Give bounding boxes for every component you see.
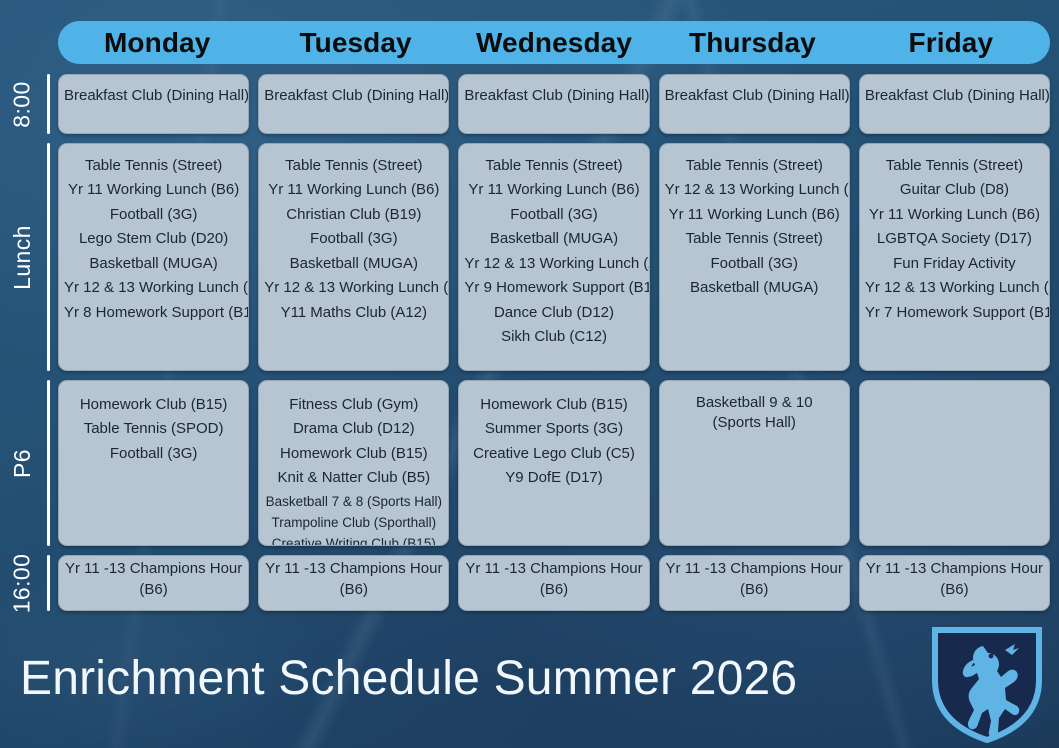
time-label-rail: 8:00 Lunch P6 16:00 [0,74,58,620]
activity-entry: Yr 12 & 13 Working Lunch (A7) [64,276,243,300]
activity-entry: Breakfast Club (Dining Hall) [464,84,643,108]
time-label-p6: P6 [0,380,44,546]
activity-entry: Yr 11 Working Lunch (B6) [464,178,643,202]
activity-entry: Yr 12 & 13 Working Lunch (A7) [264,276,443,300]
activity-entry: Yr 11 Working Lunch (B6) [665,203,844,227]
activity-entry: Yr 8 Homework Support (B15) [64,301,243,325]
activity-entry: Table Tennis (SPOD) [64,417,243,441]
day-header-friday: Friday [852,21,1050,64]
activity-entry: Table Tennis (Street) [264,154,443,178]
schedule-grid: Breakfast Club (Dining Hall) Breakfast C… [58,74,1050,620]
activity-entry: Basketball (MUGA) [64,252,243,276]
activity-entry: Dance Club (D12) [464,301,643,325]
activity-entry: Yr 11 -13 Champions Hour (B6) [865,559,1044,600]
activity-entry: Basketball (MUGA) [264,252,443,276]
activity-entry: Fitness Club (Gym) [264,393,443,417]
rail-divider-1600 [47,555,50,611]
activity-entry: Football (3G) [665,252,844,276]
cell-p6-monday[interactable]: Homework Club (B15) Table Tennis (SPOD) … [58,380,249,546]
cell-p6-tuesday[interactable]: Fitness Club (Gym) Drama Club (D12) Home… [258,380,449,546]
time-label-lunch: Lunch [0,143,44,371]
activity-entry: Sikh Club (C12) [464,325,643,349]
activity-entry: Yr 11 -13 Champions Hour (B6) [464,559,643,600]
activity-entry: Basketball (MUGA) [665,276,844,300]
cell-lunch-friday[interactable]: Table Tennis (Street) Guitar Club (D8) Y… [859,143,1050,371]
activity-entry: Table Tennis (Street) [665,227,844,251]
activity-entry: Football (3G) [264,227,443,251]
activity-entry: Breakfast Club (Dining Hall) [665,84,844,108]
activity-entry: Yr 7 Homework Support (B15) [865,301,1044,325]
activity-entry: Yr 11 Working Lunch (B6) [865,203,1044,227]
activity-entry: Creative Lego Club (C5) [464,442,643,466]
cell-breakfast-wednesday[interactable]: Breakfast Club (Dining Hall) [458,74,649,134]
activity-entry: Christian Club (B19) [264,203,443,227]
activity-entry: Table Tennis (Street) [464,154,643,178]
cell-breakfast-friday[interactable]: Breakfast Club (Dining Hall) [859,74,1050,134]
activity-entry: Table Tennis (Street) [665,154,844,178]
cell-1600-tuesday[interactable]: Yr 11 -13 Champions Hour (B6) [258,555,449,611]
rail-divider-800 [47,74,50,134]
day-header-tuesday: Tuesday [256,21,454,64]
activity-entry: Y9 DofE (D17) [464,466,643,490]
school-crest-icon [927,620,1047,744]
activity-entry: Basketball 9 & 10 (Sports Hall) [679,393,829,432]
activity-entry: Homework Club (B15) [264,442,443,466]
activity-entry: Yr 12 & 13 Working Lunch (A7) [665,178,844,202]
cell-1600-wednesday[interactable]: Yr 11 -13 Champions Hour (B6) [458,555,649,611]
activity-entry: Table Tennis (Street) [64,154,243,178]
day-header-thursday: Thursday [653,21,851,64]
activity-entry: Lego Stem Club (D20) [64,227,243,251]
cell-lunch-thursday[interactable]: Table Tennis (Street) Yr 12 & 13 Working… [659,143,850,371]
activity-entry: Y11 Maths Club (A12) [264,301,443,325]
activity-entry: Guitar Club (D8) [865,178,1044,202]
activity-entry: Breakfast Club (Dining Hall) [64,84,243,108]
activity-entry: Football (3G) [464,203,643,227]
time-label-1600: 16:00 [0,555,44,611]
activity-entry: Drama Club (D12) [264,417,443,441]
weekday-header-bar: Monday Tuesday Wednesday Thursday Friday [58,21,1050,64]
time-label-800: 8:00 [0,74,44,134]
activity-entry: Football (3G) [64,203,243,227]
cell-1600-monday[interactable]: Yr 11 -13 Champions Hour (B6) [58,555,249,611]
cell-p6-friday[interactable] [859,380,1050,546]
cell-breakfast-monday[interactable]: Breakfast Club (Dining Hall) [58,74,249,134]
activity-entry: Fun Friday Activity [865,252,1044,276]
cell-1600-friday[interactable]: Yr 11 -13 Champions Hour (B6) [859,555,1050,611]
activity-entry: Breakfast Club (Dining Hall) [264,84,443,108]
cell-lunch-wednesday[interactable]: Table Tennis (Street) Yr 11 Working Lunc… [458,143,649,371]
rail-divider-lunch [47,143,50,371]
enrichment-schedule-page: Monday Tuesday Wednesday Thursday Friday… [0,0,1059,748]
schedule-row-breakfast: Breakfast Club (Dining Hall) Breakfast C… [58,74,1050,134]
day-header-wednesday: Wednesday [455,21,653,64]
activity-entry: Basketball (MUGA) [464,227,643,251]
schedule-row-p6: Homework Club (B15) Table Tennis (SPOD) … [58,380,1050,546]
activity-entry: Breakfast Club (Dining Hall) [865,84,1044,108]
activity-entry: Yr 11 -13 Champions Hour (B6) [264,559,443,600]
activity-entry: Football (3G) [64,442,243,466]
schedule-row-1600: Yr 11 -13 Champions Hour (B6) Yr 11 -13 … [58,555,1050,611]
rail-divider-p6 [47,380,50,546]
activity-entry: Creative Writing Club (B15) [264,533,443,546]
activity-entry: Table Tennis (Street) [865,154,1044,178]
activity-entry: Homework Club (B15) [464,393,643,417]
activity-entry: Yr 11 Working Lunch (B6) [264,178,443,202]
cell-1600-thursday[interactable]: Yr 11 -13 Champions Hour (B6) [659,555,850,611]
activity-entry: Yr 12 & 13 Working Lunch (A7) [464,252,643,276]
day-header-monday: Monday [58,21,256,64]
page-title: Enrichment Schedule Summer 2026 [20,655,797,703]
activity-entry: Summer Sports (3G) [464,417,643,441]
activity-entry: Basketball 7 & 8 (Sports Hall) [264,491,443,512]
activity-entry: Knit & Natter Club (B5) [264,466,443,490]
activity-entry: Yr 12 & 13 Working Lunch (A7) [865,276,1044,300]
activity-entry: Yr 11 Working Lunch (B6) [64,178,243,202]
cell-p6-wednesday[interactable]: Homework Club (B15) Summer Sports (3G) C… [458,380,649,546]
activity-entry: Homework Club (B15) [64,393,243,417]
cell-breakfast-thursday[interactable]: Breakfast Club (Dining Hall) [659,74,850,134]
activity-entry: Yr 11 -13 Champions Hour (B6) [665,559,844,600]
activity-entry: Trampoline Club (Sporthall) [264,512,443,533]
cell-p6-thursday[interactable]: Basketball 9 & 10 (Sports Hall) [659,380,850,546]
cell-breakfast-tuesday[interactable]: Breakfast Club (Dining Hall) [258,74,449,134]
cell-lunch-tuesday[interactable]: Table Tennis (Street) Yr 11 Working Lunc… [258,143,449,371]
cell-lunch-monday[interactable]: Table Tennis (Street) Yr 11 Working Lunc… [58,143,249,371]
schedule-row-lunch: Table Tennis (Street) Yr 11 Working Lunc… [58,143,1050,371]
activity-entry: LGBTQA Society (D17) [865,227,1044,251]
activity-entry: Yr 11 -13 Champions Hour (B6) [64,559,243,600]
activity-entry: Yr 9 Homework Support (B15) [464,276,643,300]
